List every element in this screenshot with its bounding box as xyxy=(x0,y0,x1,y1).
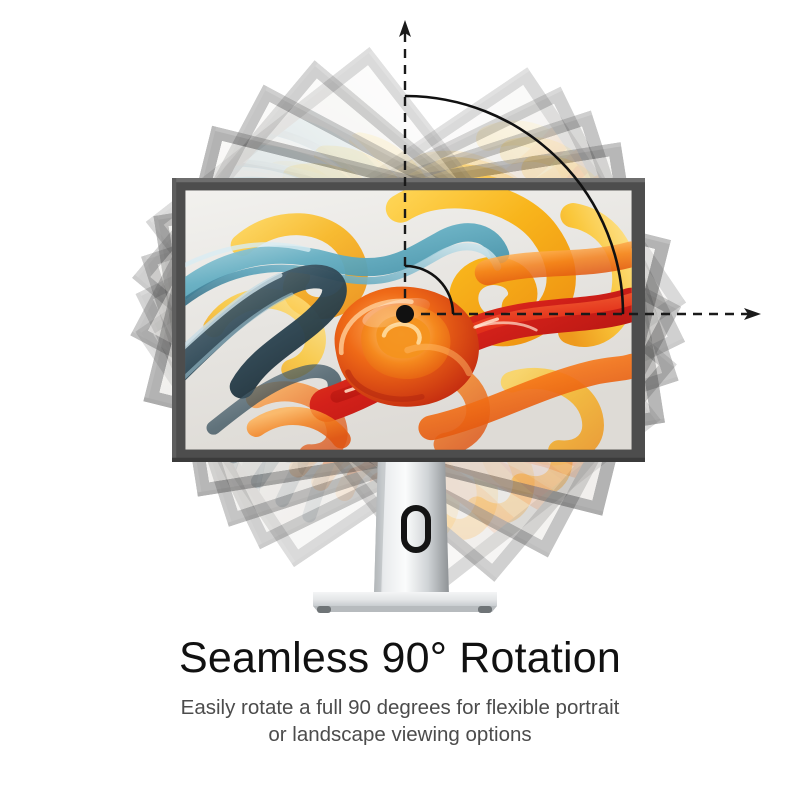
stand-base xyxy=(313,592,497,606)
base-foot-left xyxy=(317,606,331,613)
caption-block: Seamless 90° Rotation Easily rotate a fu… xyxy=(0,636,800,748)
stand-base-edge xyxy=(313,606,497,612)
subtitle-line-1: Easily rotate a full 90 degrees for flex… xyxy=(0,694,800,721)
illustration-stage: Seamless 90° Rotation Easily rotate a fu… xyxy=(0,0,800,800)
headline-text: Seamless 90° Rotation xyxy=(0,636,800,682)
subtitle-line-2: or landscape viewing options xyxy=(0,721,800,748)
rotation-pivot-dot xyxy=(396,305,414,323)
base-foot-right xyxy=(478,606,492,613)
subtitle-text: Easily rotate a full 90 degrees for flex… xyxy=(0,694,800,748)
